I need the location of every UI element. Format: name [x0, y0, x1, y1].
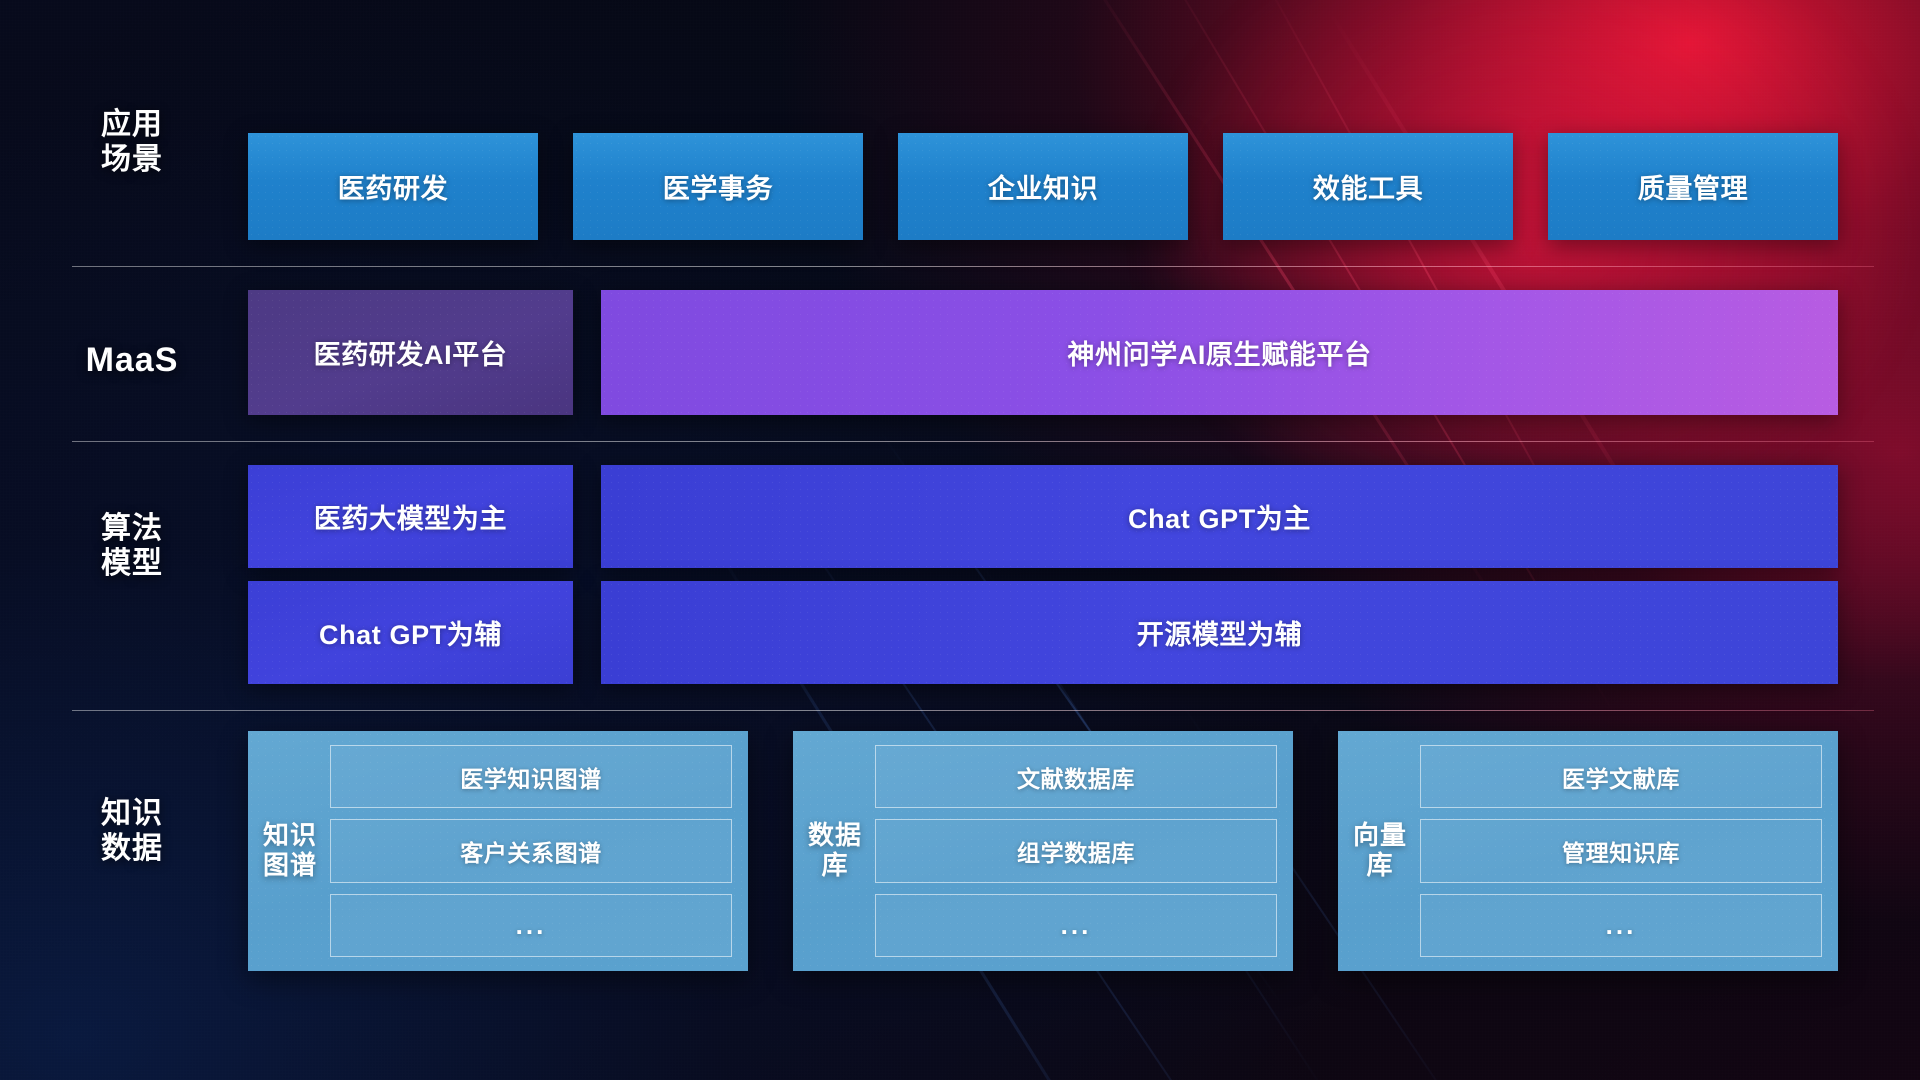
- knowledge-item-more[interactable]: ...: [875, 894, 1277, 957]
- algo-cell-chatgpt-primary[interactable]: Chat GPT为主: [601, 465, 1838, 568]
- divider-3: [72, 710, 1874, 711]
- knowledge-item[interactable]: 医学文献库: [1420, 745, 1822, 808]
- knowledge-item[interactable]: 管理知识库: [1420, 819, 1822, 882]
- knowledge-panel-title: 数据库: [807, 745, 863, 957]
- knowledge-panel-items: 医学知识图谱 客户关系图谱 ...: [330, 745, 732, 957]
- row-label-line: 场景: [72, 143, 192, 178]
- app-cell-quality-management[interactable]: 质量管理: [1548, 133, 1838, 240]
- knowledge-item[interactable]: 文献数据库: [875, 745, 1277, 808]
- knowledge-item[interactable]: 组学数据库: [875, 819, 1277, 882]
- knowledge-item[interactable]: 客户关系图谱: [330, 819, 732, 882]
- knowledge-panel-title: 知识图谱: [262, 745, 318, 957]
- knowledge-panel-title: 向量库: [1352, 745, 1408, 957]
- row-label-maas: MaaS: [72, 341, 192, 380]
- row-label-line: 数据: [72, 832, 192, 867]
- app-cell-medicine-rd[interactable]: 医药研发: [248, 133, 538, 240]
- row-label-application-scenarios: 应用 场景: [72, 108, 192, 178]
- app-cell-enterprise-knowledge[interactable]: 企业知识: [898, 133, 1188, 240]
- maas-cell-medicine-ai-platform[interactable]: 医药研发AI平台: [248, 290, 573, 415]
- knowledge-item[interactable]: 医学知识图谱: [330, 745, 732, 808]
- divider-2: [72, 441, 1874, 442]
- algo-cell-chatgpt-secondary[interactable]: Chat GPT为辅: [248, 581, 573, 684]
- row-label-line: 算法: [72, 512, 192, 547]
- row-label-line: MaaS: [72, 341, 192, 380]
- row-label-line: 知识: [72, 797, 192, 832]
- knowledge-panel-items: 医学文献库 管理知识库 ...: [1420, 745, 1822, 957]
- algo-cell-medicine-llm-primary[interactable]: 医药大模型为主: [248, 465, 573, 568]
- row-label-algorithm-models: 算法 模型: [72, 512, 192, 582]
- architecture-diagram: 应用 场景 医药研发 医学事务 企业知识 效能工具 质量管理 MaaS 医药研发…: [0, 0, 1920, 1080]
- row-label-line: 应用: [72, 108, 192, 143]
- app-cell-medical-affairs[interactable]: 医学事务: [573, 133, 863, 240]
- divider-1: [72, 266, 1874, 267]
- knowledge-panel-items: 文献数据库 组学数据库 ...: [875, 745, 1277, 957]
- app-cell-efficiency-tools[interactable]: 效能工具: [1223, 133, 1513, 240]
- knowledge-panel-database[interactable]: 数据库 文献数据库 组学数据库 ...: [793, 731, 1293, 971]
- knowledge-panel-vector-store[interactable]: 向量库 医学文献库 管理知识库 ...: [1338, 731, 1838, 971]
- knowledge-item-more[interactable]: ...: [330, 894, 732, 957]
- knowledge-item-more[interactable]: ...: [1420, 894, 1822, 957]
- knowledge-panel-knowledge-graph[interactable]: 知识图谱 医学知识图谱 客户关系图谱 ...: [248, 731, 748, 971]
- row-label-line: 模型: [72, 547, 192, 582]
- row-label-knowledge-data: 知识 数据: [72, 797, 192, 867]
- maas-cell-shenzhou-wenxue-platform[interactable]: 神州问学AI原生赋能平台: [601, 290, 1838, 415]
- algo-cell-opensource-secondary[interactable]: 开源模型为辅: [601, 581, 1838, 684]
